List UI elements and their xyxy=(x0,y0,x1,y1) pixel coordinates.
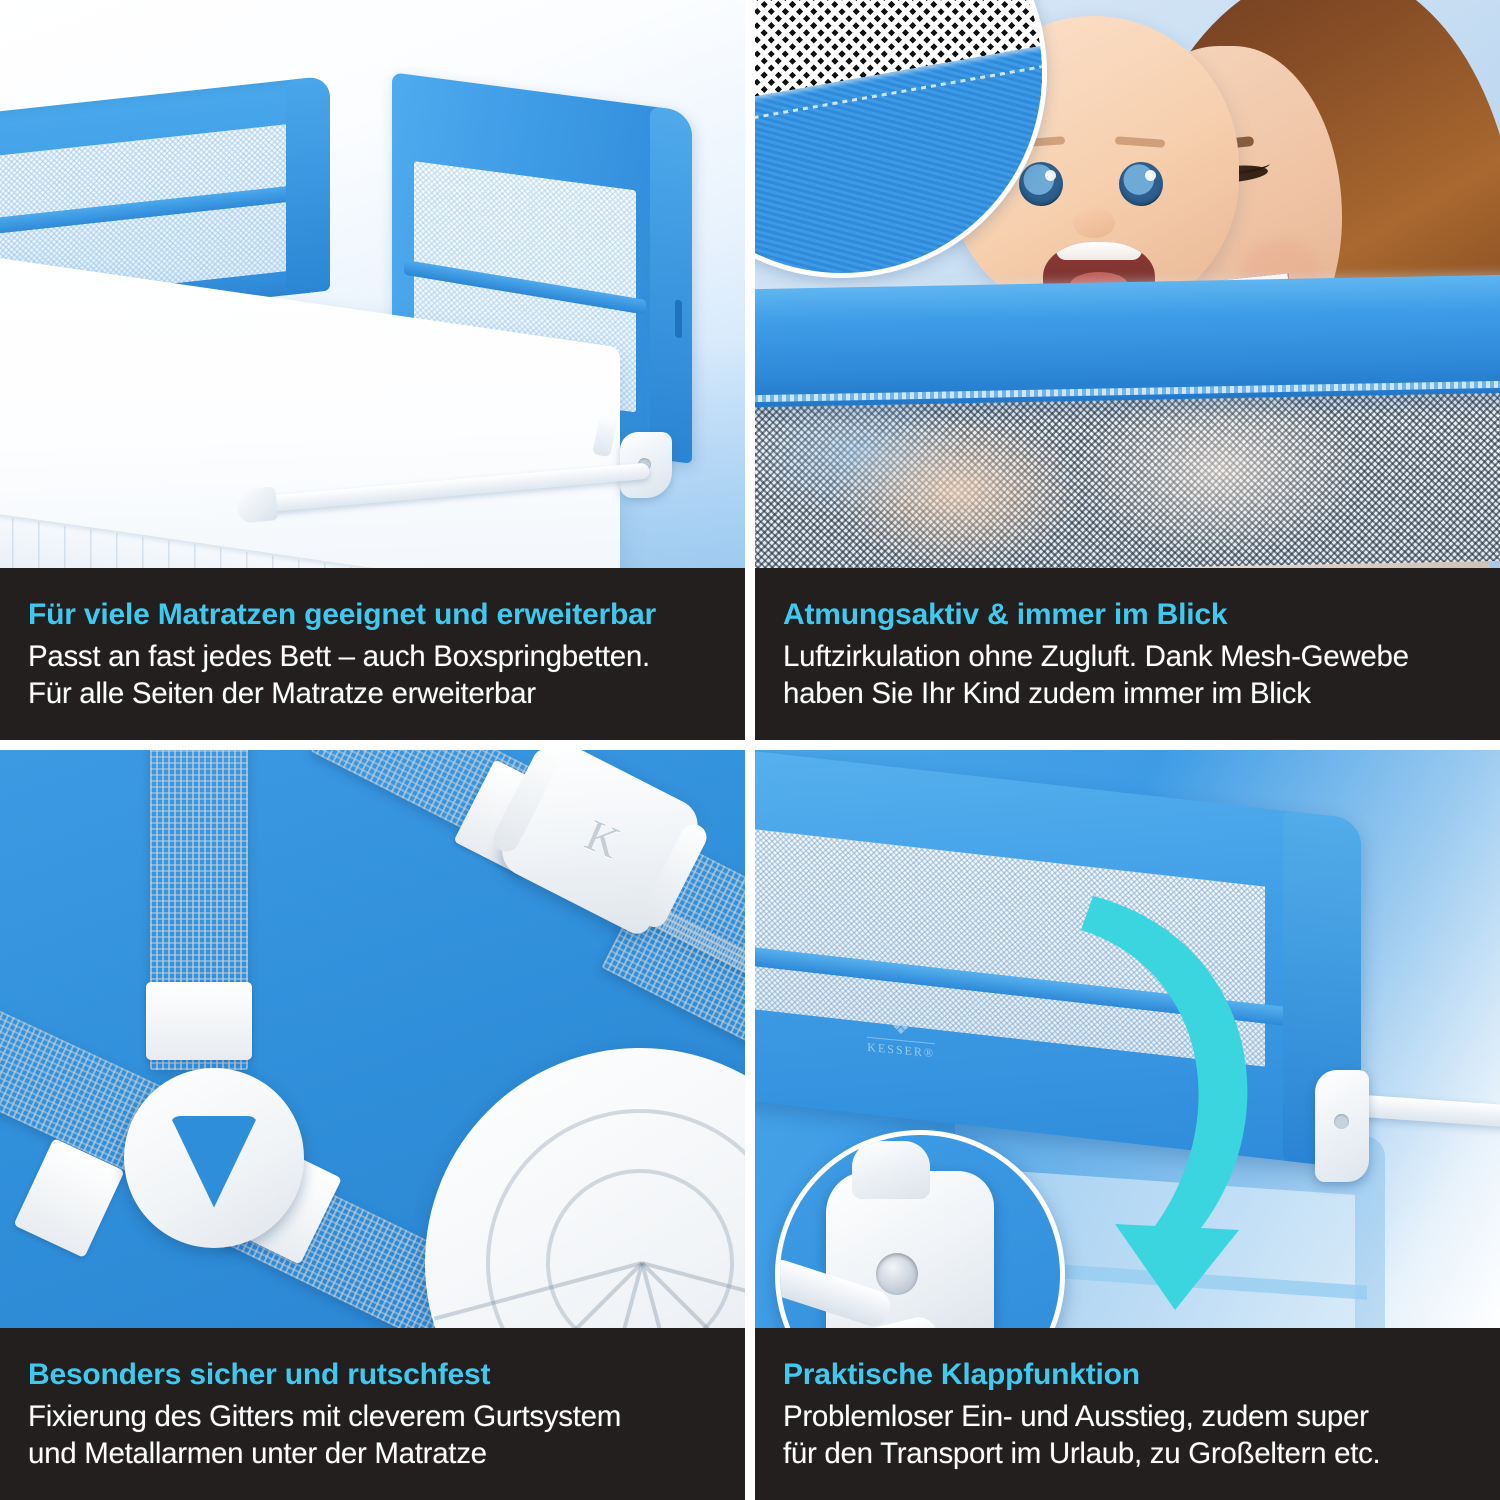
rail-end-cap xyxy=(650,106,692,464)
caption-title: Für viele Matratzen geeignet und erweite… xyxy=(28,598,719,632)
baby-eye-right xyxy=(1119,162,1163,206)
feature-panel-folding-function: ❖ KESSER® Praktische Klappfunktion Probl… xyxy=(755,750,1500,1500)
caption-body-line: Problemloser Ein- und Ausstieg, zudem su… xyxy=(783,1398,1474,1436)
panel-caption: Für viele Matratzen geeignet und erweite… xyxy=(0,568,745,740)
mesh-detail-zoom-circle xyxy=(755,0,1047,278)
rail-end-cap xyxy=(286,75,330,295)
caption-body-line: Fixierung des Gitters mit cleverem Gurts… xyxy=(28,1398,719,1436)
hinge-release-knob xyxy=(852,1141,930,1199)
baby-upper-teeth xyxy=(1056,242,1141,260)
product-feature-collage: Für viele Matratzen geeignet und erweite… xyxy=(0,0,1500,1500)
bed-rail-top-tube xyxy=(755,275,1500,408)
panel-caption: Praktische Klappfunktion Problemloser Ei… xyxy=(755,1328,1500,1500)
caption-body-line: Luftzirkulation ohne Zugluft. Dank Mesh-… xyxy=(783,638,1474,676)
strap-keeper-loop xyxy=(146,982,252,1060)
fold-direction-arrow-icon xyxy=(1063,878,1303,1318)
height-adjust-slot xyxy=(675,300,682,339)
y-splitter-connector xyxy=(124,1068,304,1248)
brand-logo-on-rail: ❖ KESSER® xyxy=(867,1015,935,1061)
panel-photo-folding-mechanism: ❖ KESSER® xyxy=(755,750,1500,1328)
hinge-pivot-screw xyxy=(876,1253,918,1295)
caption-title: Praktische Klappfunktion xyxy=(783,1358,1474,1392)
panel-photo-mother-and-baby xyxy=(755,0,1500,568)
panel-photo-strap-system: K xyxy=(0,750,745,1328)
caption-body-line: und Metallarmen unter der Matratze xyxy=(28,1435,719,1473)
feature-panel-secure-nonslip: K Besonders sicher und rutschfest Fixier… xyxy=(0,750,745,1500)
brand-monogram-embossed: K xyxy=(578,809,622,866)
caption-body-line: Für alle Seiten der Matratze erweiterbar xyxy=(28,675,719,713)
caption-title: Atmungsaktiv & immer im Blick xyxy=(783,598,1474,632)
folding-hinge-joint xyxy=(1315,1070,1369,1182)
caption-body-line: Passt an fast jedes Bett – auch Boxsprin… xyxy=(28,638,719,676)
caption-title: Besonders sicher und rutschfest xyxy=(28,1358,719,1392)
feature-panel-breathable-visible: Atmungsaktiv & immer im Blick Luftzirkul… xyxy=(755,0,1500,740)
baby-nose xyxy=(1073,208,1115,238)
support-arm-foot xyxy=(235,486,278,523)
y-splitter-opening xyxy=(170,1116,258,1208)
caption-body: Problemloser Ein- und Ausstieg, zudem su… xyxy=(783,1398,1474,1474)
panel-caption: Besonders sicher und rutschfest Fixierun… xyxy=(0,1328,745,1500)
caption-body: Passt an fast jedes Bett – auch Boxsprin… xyxy=(28,638,719,714)
feature-panel-fits-mattresses: Für viele Matratzen geeignet und erweite… xyxy=(0,0,745,740)
panel-photo-bed-rail-on-mattress xyxy=(0,0,745,568)
caption-body-line: für den Transport im Urlaub, zu Großelte… xyxy=(783,1435,1474,1473)
panel-caption: Atmungsaktiv & immer im Blick Luftzirkul… xyxy=(755,568,1500,740)
caption-body-line: haben Sie Ihr Kind zudem immer im Blick xyxy=(783,675,1474,713)
caption-body: Luftzirkulation ohne Zugluft. Dank Mesh-… xyxy=(783,638,1474,714)
caption-body: Fixierung des Gitters mit cleverem Gurts… xyxy=(28,1398,719,1474)
